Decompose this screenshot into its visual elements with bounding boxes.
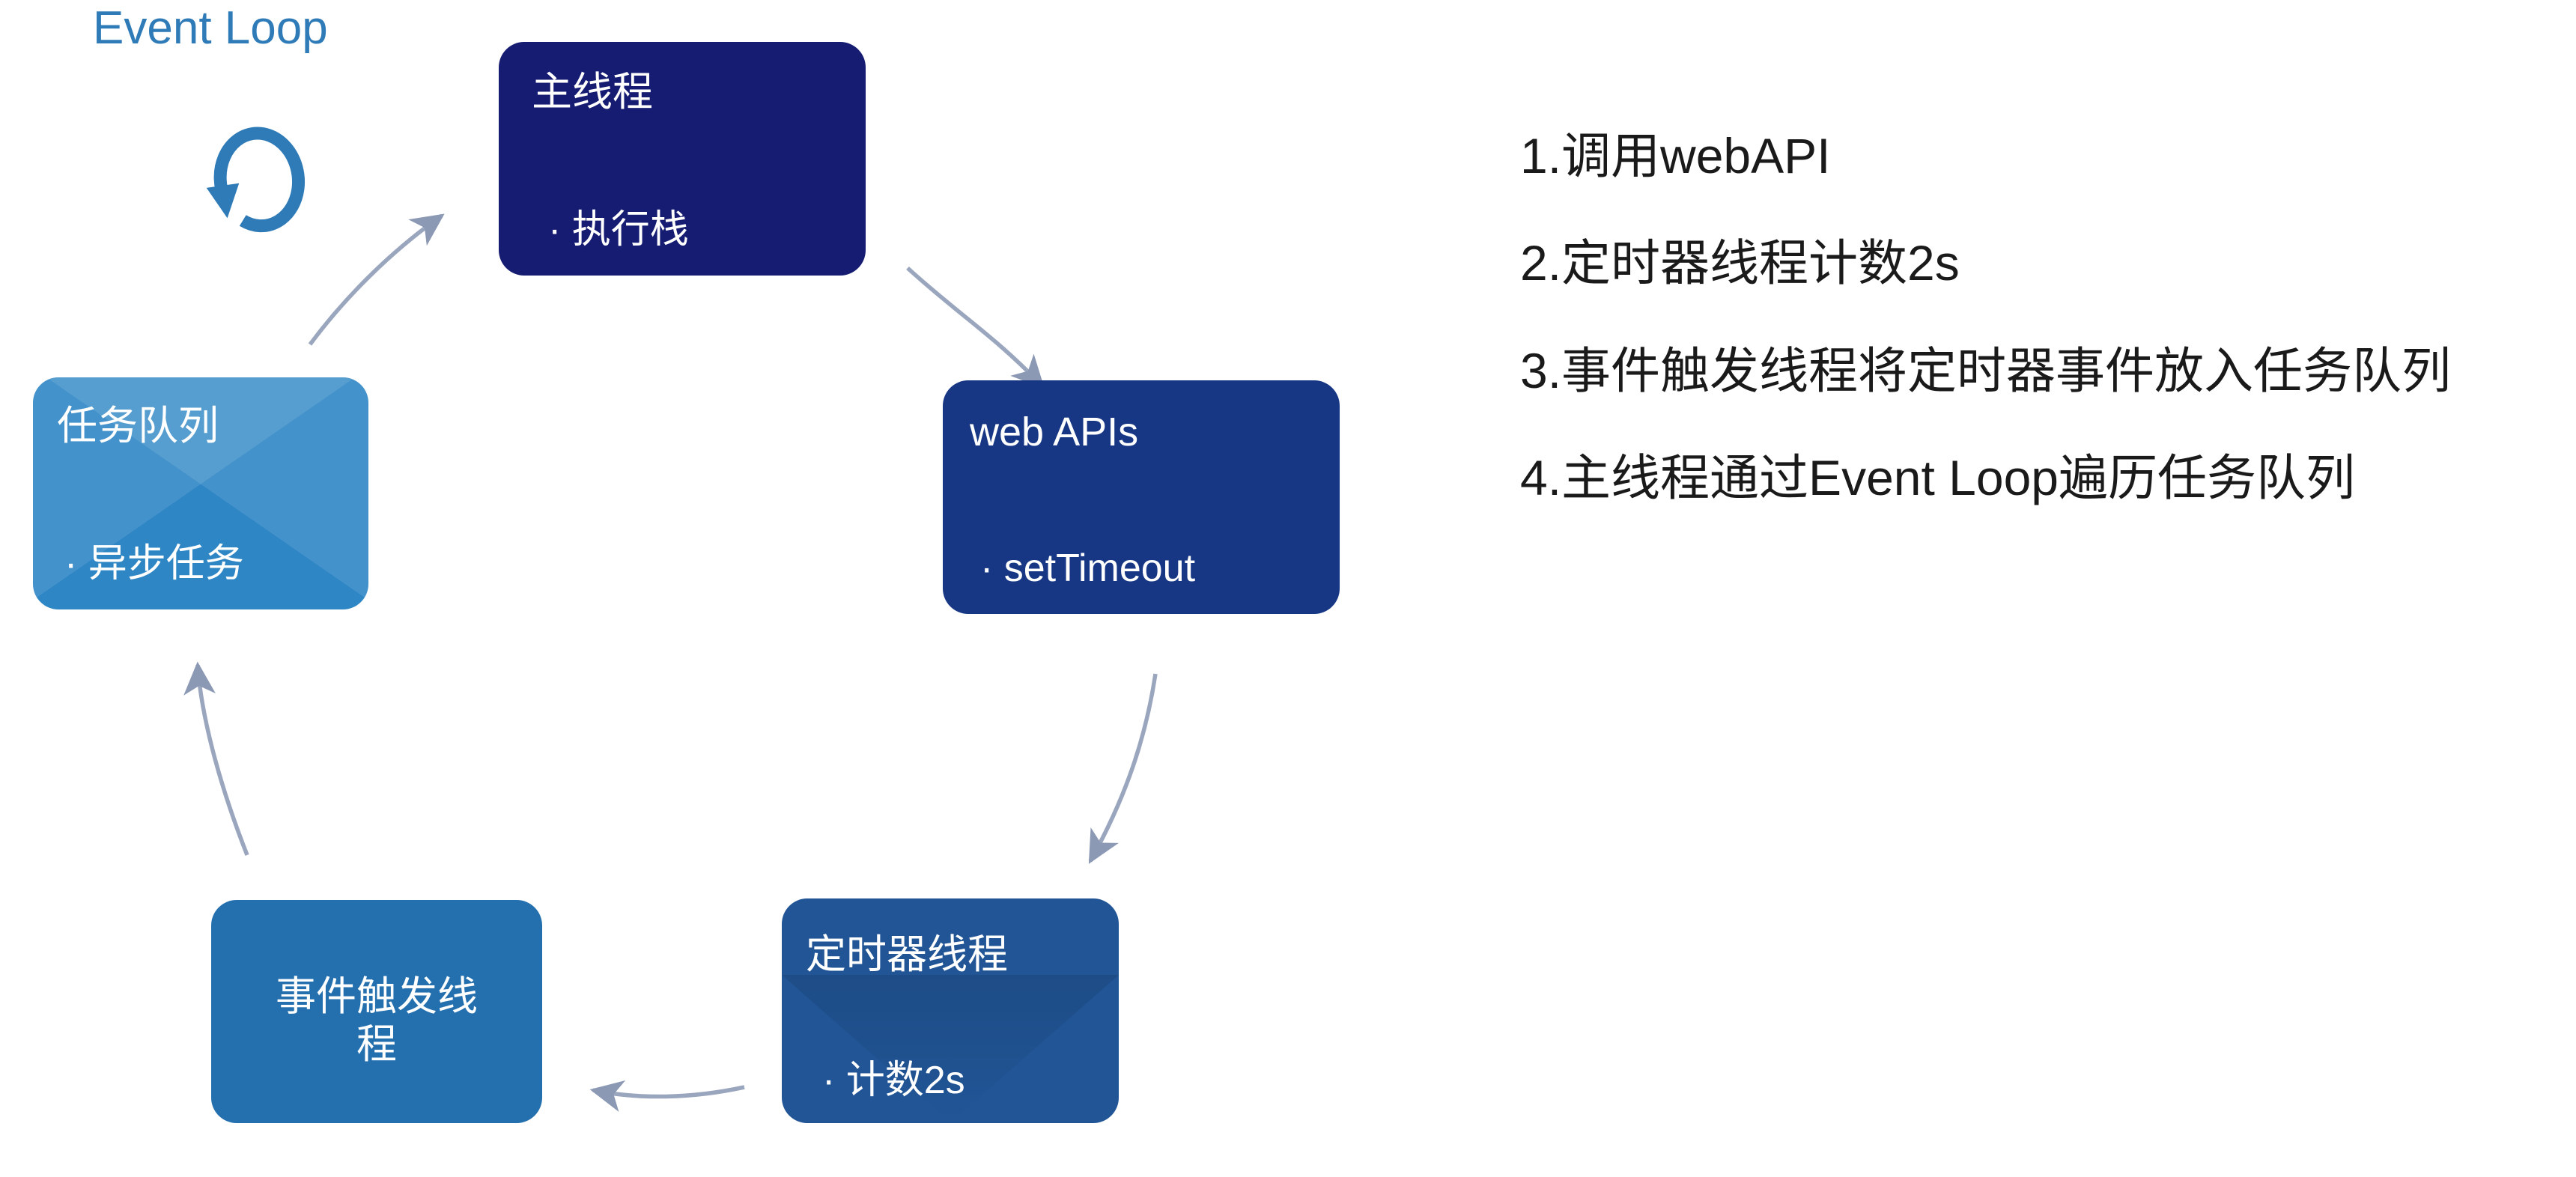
- list-item: 3. 事件触发线程将定时器事件放入任务队列: [1520, 327, 2539, 415]
- node-web-apis[interactable]: web APIs · setTimeout: [943, 380, 1340, 614]
- arrow-main-to-webapis: [908, 268, 1042, 386]
- step-text: 调用webAPI: [1561, 112, 2539, 200]
- list-item: 4. 主线程通过Event Loop遍历任务队列: [1520, 434, 2539, 522]
- diagram-title: Event Loop: [93, 1, 328, 55]
- step-number: 1.: [1520, 112, 1561, 200]
- list-item: 2. 定时器线程计数2s: [1520, 219, 2539, 307]
- step-number: 2.: [1520, 219, 1561, 307]
- step-text: 主线程通过Event Loop遍历任务队列: [1561, 434, 2539, 522]
- list-item: 1. 调用webAPI: [1520, 112, 2539, 200]
- node-title: 定时器线程: [806, 931, 1008, 979]
- node-subtitle: · 计数2s: [806, 1058, 965, 1104]
- node-title: 任务队列: [57, 403, 219, 451]
- event-loop-diagram: Event Loop: [0, 0, 1423, 1177]
- node-title: 事件触发线 程: [234, 973, 520, 1068]
- slide-canvas: Event Loop: [0, 0, 2576, 1177]
- circular-refresh-icon: [181, 90, 323, 240]
- node-subtitle: · 异步任务: [57, 541, 244, 587]
- node-title: web APIs: [970, 409, 1138, 457]
- node-subtitle: · 执行栈: [532, 207, 689, 253]
- node-event-trigger-thread[interactable]: 事件触发线 程: [211, 900, 542, 1123]
- step-text: 事件触发线程将定时器事件放入任务队列: [1561, 327, 2539, 415]
- arrow-taskqueue-to-main: [310, 216, 442, 344]
- step-number: 3.: [1520, 327, 1561, 415]
- arrow-eventthread-to-taskqueue: [198, 665, 247, 855]
- node-title: 主线程: [532, 69, 653, 117]
- step-text: 定时器线程计数2s: [1561, 219, 2539, 307]
- node-timer-thread[interactable]: 定时器线程 · 计数2s: [782, 898, 1119, 1123]
- steps-list: 1. 调用webAPI 2. 定时器线程计数2s 3. 事件触发线程将定时器事件…: [1520, 112, 2539, 542]
- step-number: 4.: [1520, 434, 1561, 522]
- node-main-thread[interactable]: 主线程 · 执行栈: [499, 42, 866, 276]
- arrow-timer-to-eventthread: [593, 1087, 744, 1097]
- node-subtitle: · setTimeout: [970, 546, 1195, 591]
- arrow-webapis-to-timer: [1090, 674, 1155, 861]
- node-task-queue[interactable]: 任务队列 · 异步任务: [33, 377, 368, 609]
